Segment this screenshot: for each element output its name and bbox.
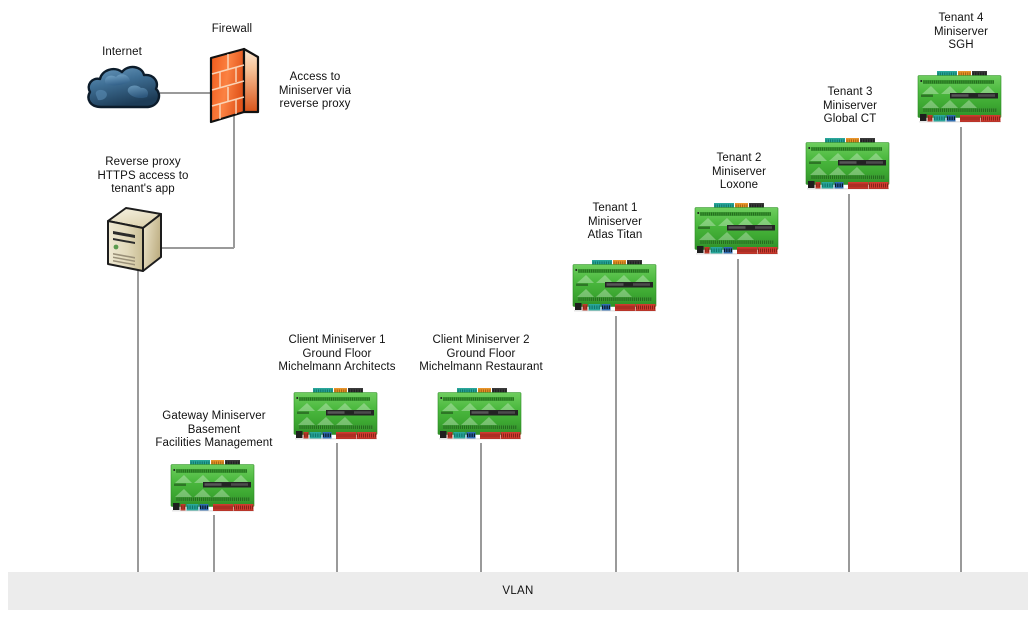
tenant4-label: Tenant 4 Miniserver SGH — [906, 12, 1016, 53]
link-tenant3-vlan — [848, 194, 850, 573]
proxy-note: Reverse proxy HTTPS access to tenant's a… — [85, 156, 201, 197]
miniserver-icon — [570, 260, 662, 316]
link-client2-vlan — [480, 443, 482, 573]
firewall-icon — [206, 46, 264, 128]
link-firewall-proxy — [160, 247, 234, 249]
gateway-label: Gateway Miniserver Basement Facilities M… — [140, 410, 288, 451]
vlan-bar: VLAN — [8, 572, 1028, 610]
client1-label: Client Miniserver 1 Ground Floor Michelm… — [268, 334, 406, 375]
server-icon — [104, 205, 166, 275]
tenant3-label: Tenant 3 Miniserver Global CT — [795, 86, 905, 127]
client2-label: Client Miniserver 2 Ground Floor Michelm… — [412, 334, 550, 375]
miniserver-icon — [915, 71, 1007, 127]
miniserver-icon — [803, 138, 895, 194]
tenant1-label: Tenant 1 Miniserver Atlas Titan — [560, 202, 670, 243]
link-firewall-down — [233, 110, 235, 248]
miniserver-icon — [168, 460, 260, 516]
link-proxy-vlan — [137, 268, 139, 573]
miniserver-icon — [435, 388, 527, 444]
link-tenant1-vlan — [615, 316, 617, 573]
tenant2-label: Tenant 2 Miniserver Loxone — [684, 152, 794, 193]
cloud-icon — [84, 62, 162, 118]
vlan-label: VLAN — [502, 585, 533, 597]
link-tenant4-vlan — [960, 127, 962, 573]
link-tenant2-vlan — [737, 259, 739, 573]
internet-label: Internet — [82, 46, 162, 60]
link-internet-firewall — [160, 92, 212, 94]
miniserver-icon — [291, 388, 383, 444]
link-client1-vlan — [336, 443, 338, 573]
link-gateway-vlan — [213, 515, 215, 573]
miniserver-icon — [692, 203, 784, 259]
firewall-note: Access to Miniserver via reverse proxy — [264, 71, 366, 112]
diagram-canvas: Internet Firewall — [0, 0, 1036, 623]
firewall-label: Firewall — [192, 23, 272, 37]
